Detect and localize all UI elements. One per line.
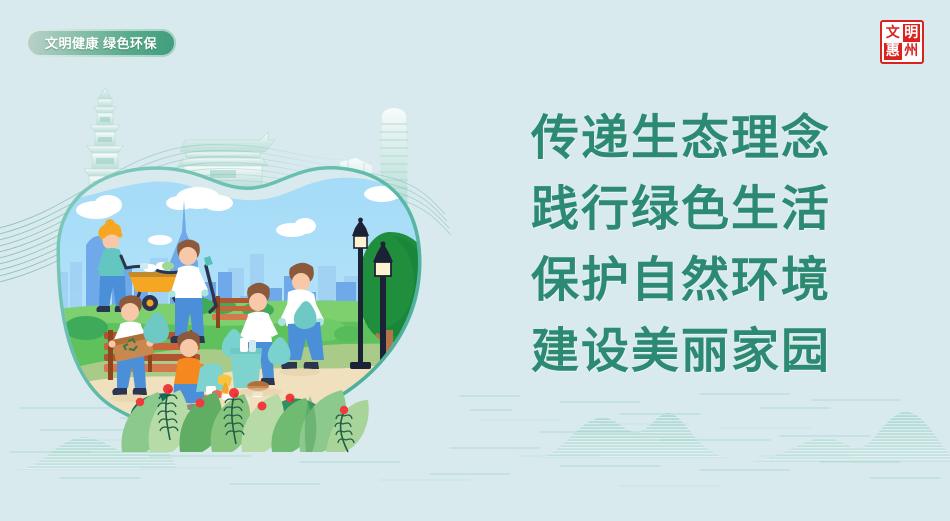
headline-line-4: 建设美丽家园 bbox=[531, 316, 861, 387]
seal-char-ming: 明 bbox=[903, 24, 921, 42]
headline-line-2: 践行绿色生活 bbox=[531, 174, 861, 245]
poster-root: 文明健康 绿色环保 文 明 惠 州 传递生态理念 践行绿色生活 保护自然环境 建… bbox=[0, 0, 950, 521]
wenming-huizhou-seal: 文 明 惠 州 bbox=[880, 20, 924, 64]
seal-char-zhou: 州 bbox=[903, 43, 921, 61]
headline-line-3: 保护自然环境 bbox=[531, 245, 861, 316]
slogan-badge: 文明健康 绿色环保 bbox=[26, 29, 176, 57]
headline-block: 传递生态理念 践行绿色生活 保护自然环境 建设美丽家园 bbox=[531, 103, 861, 387]
headline-line-1: 传递生态理念 bbox=[531, 103, 861, 174]
seal-char-hui: 惠 bbox=[884, 43, 902, 61]
slogan-badge-text: 文明健康 绿色环保 bbox=[45, 37, 157, 50]
seal-char-wen: 文 bbox=[884, 24, 902, 42]
